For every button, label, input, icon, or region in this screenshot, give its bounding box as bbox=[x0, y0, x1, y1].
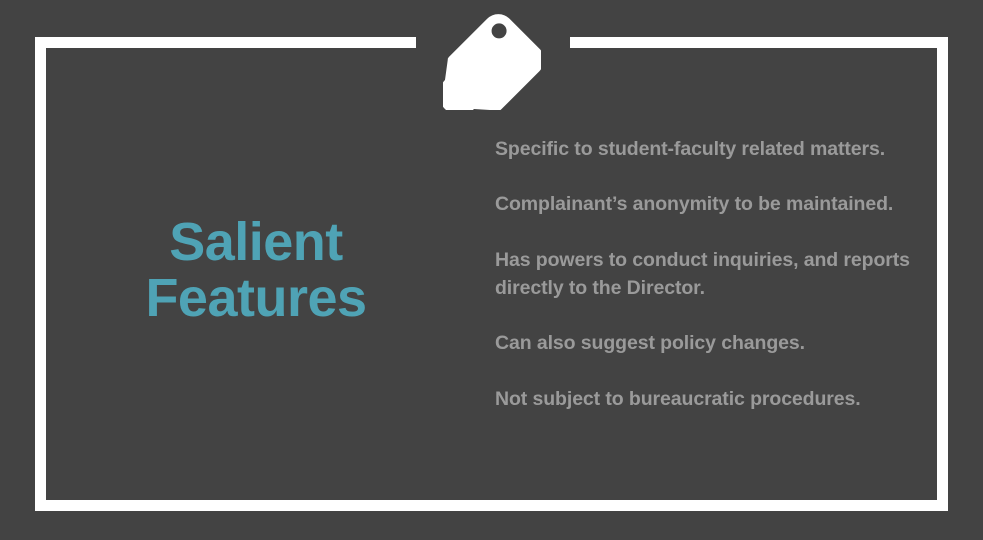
bullet-column: Specific to student-faculty related matt… bbox=[466, 135, 937, 413]
page-title: Salient Features bbox=[145, 215, 366, 326]
frame-border-bottom bbox=[35, 500, 948, 511]
list-item: Complainant’s anonymity to be maintained… bbox=[495, 190, 915, 218]
list-item: Specific to student-faculty related matt… bbox=[495, 135, 915, 163]
list-item: Can also suggest policy changes. bbox=[495, 329, 915, 357]
frame-border-left bbox=[35, 37, 46, 511]
frame-border-right bbox=[937, 37, 948, 511]
list-item: Not subject to bureaucratic procedures. bbox=[495, 385, 927, 413]
list-item: Has powers to conduct inquiries, and rep… bbox=[495, 246, 915, 303]
presentation-slide: Salient Features Specific to student-fac… bbox=[0, 0, 983, 540]
frame-border-top-left-segment bbox=[35, 37, 416, 48]
frame-border-top-right-segment bbox=[570, 37, 948, 48]
title-column: Salient Features bbox=[46, 215, 466, 332]
salient-features-list: Specific to student-faculty related matt… bbox=[495, 135, 927, 413]
slide-content: Salient Features Specific to student-fac… bbox=[46, 48, 937, 500]
